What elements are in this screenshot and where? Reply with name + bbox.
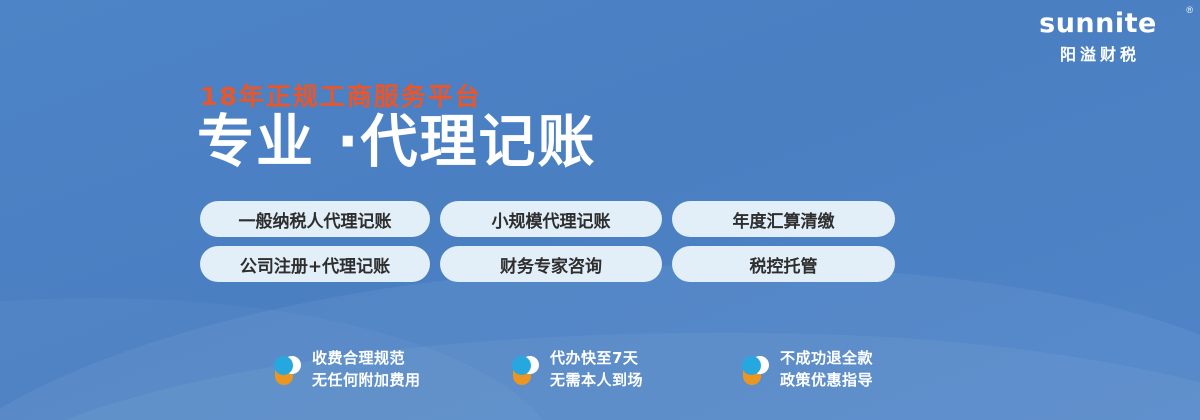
service-pill-general-taxpayer-bookkeeping[interactable]: 一般纳税人代理记账 (200, 201, 430, 237)
feature-line-2: 政策优惠指导 (780, 370, 950, 392)
registered-trademark-icon: ® (1186, 5, 1193, 15)
feature-text: 收费合理规范 无任何附加费用 (312, 348, 488, 392)
two-tone-circle-icon (510, 353, 542, 387)
two-tone-circle-icon (740, 353, 772, 387)
feature-text: 代办快至7天 无需本人到场 (550, 348, 718, 392)
feature-list: 收费合理规范 无任何附加费用 代办快至7天 无需本人到场 不成功退全款 (272, 348, 950, 392)
logo-wordmark: sunnite (1039, 10, 1157, 38)
service-pill-company-registration-bookkeeping[interactable]: 公司注册+代理记账 (200, 246, 430, 282)
feature-line-1: 收费合理规范 (312, 348, 488, 370)
service-pill-small-scale-bookkeeping[interactable]: 小规模代理记账 (440, 201, 662, 237)
feature-text: 不成功退全款 政策优惠指导 (780, 348, 950, 392)
service-pill-grid: 一般纳税人代理记账 小规模代理记账 年度汇算清缴 公司注册+代理记账 财务专家咨… (200, 201, 895, 291)
hero-eyebrow: 18年正规工商服务平台 (200, 77, 482, 113)
list-item: 收费合理规范 无任何附加费用 (272, 348, 488, 392)
page-title: 专业 ·代理记账 (197, 111, 597, 174)
feature-line-1: 代办快至7天 (550, 348, 718, 370)
service-pill-tax-control-custody[interactable]: 税控托管 (672, 246, 895, 282)
icon-cyan-circle (512, 356, 531, 375)
background-wave-left (0, 272, 565, 420)
service-pill-row: 公司注册+代理记账 财务专家咨询 税控托管 (200, 246, 895, 282)
brand-logo[interactable]: sunnite® 阳溢财税 (1014, 10, 1182, 65)
feature-line-2: 无需本人到场 (550, 370, 718, 392)
service-pill-annual-tax-settlement[interactable]: 年度汇算清缴 (672, 201, 895, 237)
service-pill-row: 一般纳税人代理记账 小规模代理记账 年度汇算清缴 (200, 201, 895, 237)
icon-cyan-circle (274, 356, 293, 375)
list-item: 不成功退全款 政策优惠指导 (740, 348, 950, 392)
icon-cyan-circle (742, 356, 761, 375)
logo-subtitle: 阳溢财税 (1014, 41, 1182, 65)
two-tone-circle-icon (272, 353, 304, 387)
feature-line-2: 无任何附加费用 (312, 370, 488, 392)
hero-banner: sunnite® 阳溢财税 18年正规工商服务平台 专业 ·代理记账 一般纳税人… (0, 0, 1200, 420)
list-item: 代办快至7天 无需本人到场 (510, 348, 718, 392)
feature-line-1: 不成功退全款 (780, 348, 950, 370)
service-pill-financial-expert-consulting[interactable]: 财务专家咨询 (440, 246, 662, 282)
